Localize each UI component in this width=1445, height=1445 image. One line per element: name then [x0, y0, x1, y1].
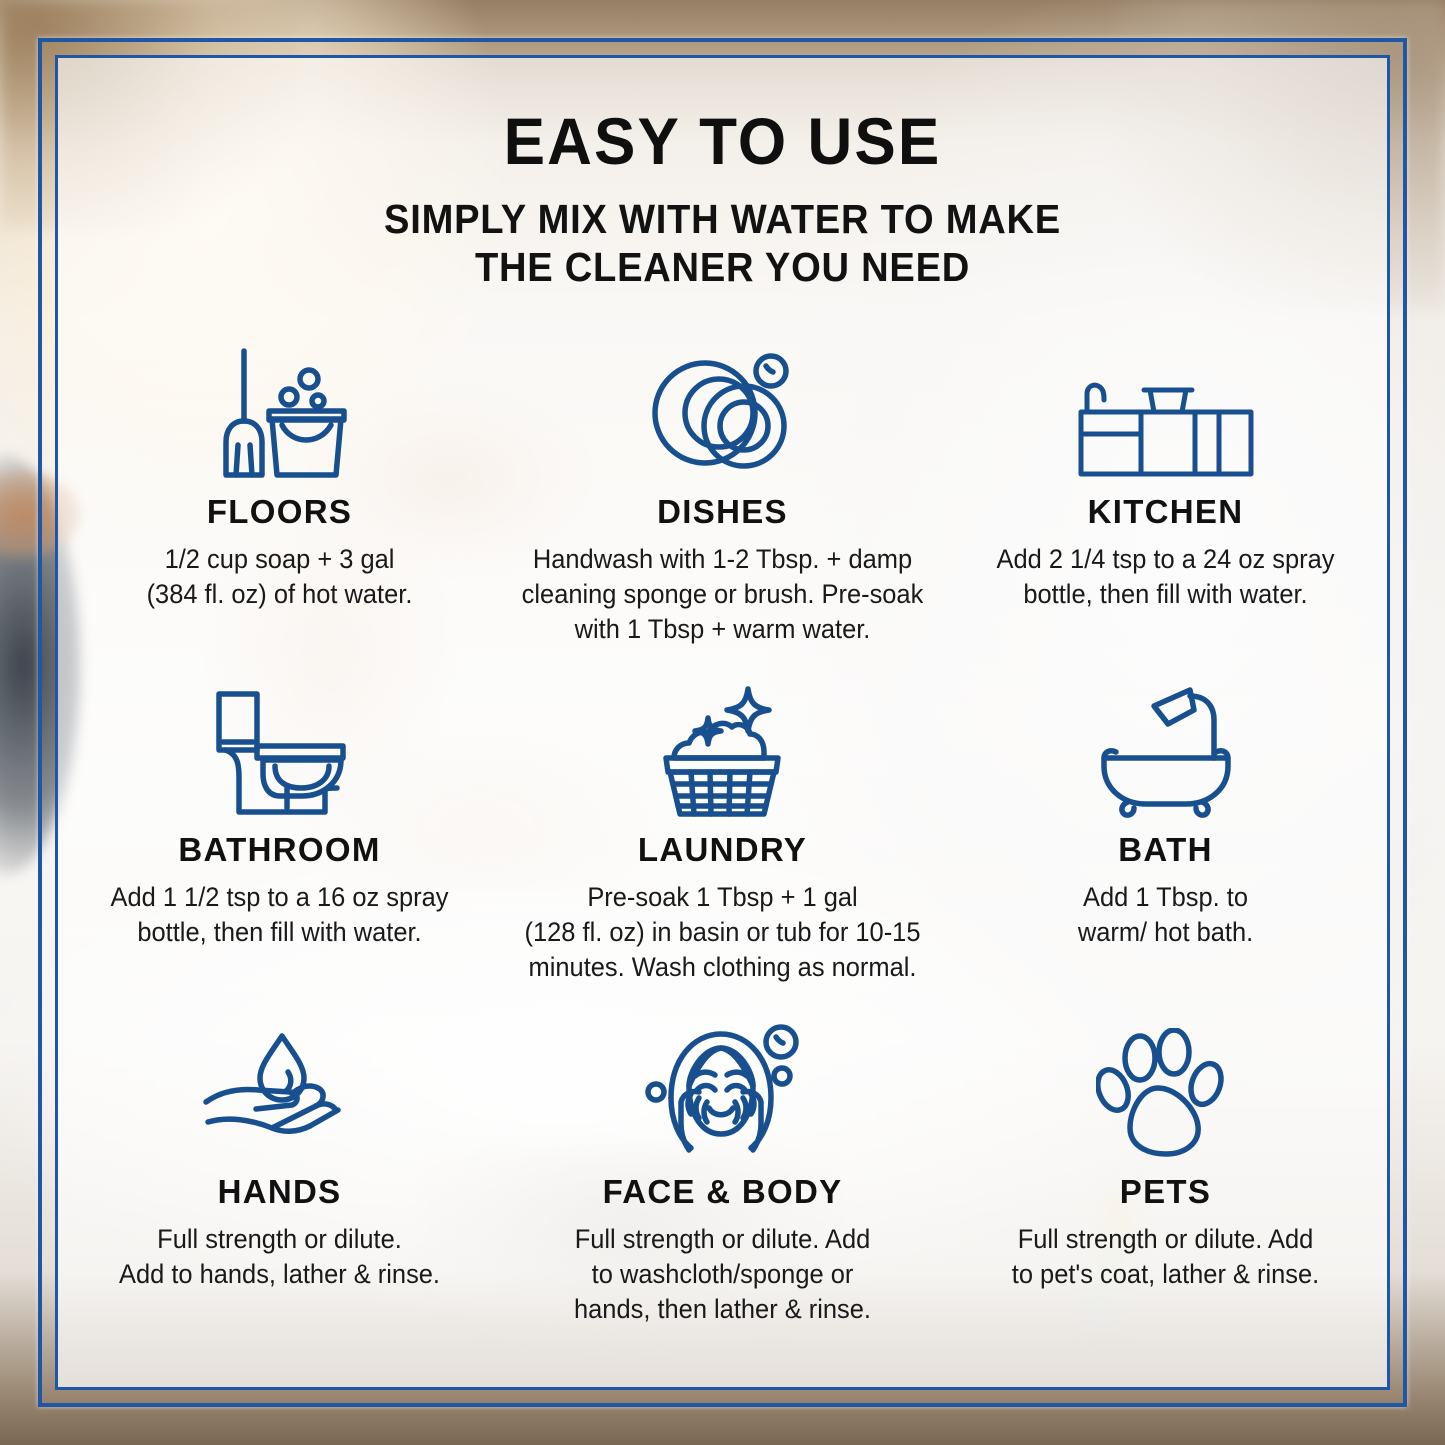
- hand-with-droplet-icon: [66, 1010, 493, 1160]
- use-case-description: Add 2 1/4 tsp to a 24 oz spray bottle, t…: [961, 542, 1371, 612]
- desc-line: with 1 Tbsp + warm water.: [518, 612, 928, 647]
- use-case-title: FLOORS: [66, 495, 493, 528]
- page-subtitle-line-2: THE CLEANER YOU NEED: [105, 244, 1341, 292]
- page-subtitle-line-1: SIMPLY MIX WITH WATER TO MAKE: [384, 196, 1061, 242]
- desc-line: Pre-soak 1 Tbsp + 1 gal: [518, 880, 928, 915]
- use-case-description: Add 1 1/2 tsp to a 16 oz spray bottle, t…: [75, 880, 485, 950]
- desc-line: (384 fl. oz) of hot water.: [75, 577, 485, 612]
- use-case-title: BATHROOM: [66, 833, 493, 866]
- desc-line: to pet's coat, lather & rinse.: [961, 1257, 1371, 1292]
- use-case-card-dishes: DISHES Handwash with 1-2 Tbsp. + damp cl…: [501, 330, 944, 670]
- plates-dishes-icon: [509, 330, 936, 480]
- use-case-title: FACE & BODY: [509, 1175, 936, 1208]
- use-case-grid: FLOORS 1/2 cup soap + 3 gal (384 fl. oz)…: [58, 330, 1387, 1350]
- desc-line: hands, then lather & rinse.: [518, 1292, 928, 1327]
- desc-line: Full strength or dilute. Add: [961, 1222, 1371, 1257]
- use-case-title: BATH: [952, 833, 1379, 866]
- use-case-title: KITCHEN: [952, 495, 1379, 528]
- page-subtitle: SIMPLY MIX WITH WATER TO MAKE THE CLEANE…: [105, 196, 1341, 292]
- laundry-basket-icon: [509, 670, 936, 818]
- use-case-description: 1/2 cup soap + 3 gal (384 fl. oz) of hot…: [75, 542, 485, 612]
- use-case-card-bathroom: BATHROOM Add 1 1/2 tsp to a 16 oz spray …: [58, 670, 501, 1010]
- desc-line: (128 fl. oz) in basin or tub for 10-15: [518, 915, 928, 950]
- desc-line: bottle, then fill with water.: [961, 577, 1371, 612]
- kitchen-counter-icon: [952, 330, 1379, 480]
- desc-line: Add 2 1/4 tsp to a 24 oz spray: [961, 542, 1371, 577]
- use-case-card-floors: FLOORS 1/2 cup soap + 3 gal (384 fl. oz)…: [58, 330, 501, 670]
- use-case-description: Full strength or dilute. Add to hands, l…: [75, 1222, 485, 1292]
- infographic-canvas: EASY TO USE SIMPLY MIX WITH WATER TO MAK…: [0, 0, 1445, 1445]
- use-case-title: PETS: [952, 1175, 1379, 1208]
- use-case-title: DISHES: [509, 495, 936, 528]
- use-case-description: Full strength or dilute. Add to washclot…: [518, 1222, 928, 1328]
- desc-line: minutes. Wash clothing as normal.: [518, 950, 928, 985]
- use-case-card-kitchen: KITCHEN Add 2 1/4 tsp to a 24 oz spray b…: [944, 330, 1387, 670]
- desc-line: Full strength or dilute. Add: [518, 1222, 928, 1257]
- face-washing-icon: [509, 1010, 936, 1160]
- use-case-description: Full strength or dilute. Add to pet's co…: [961, 1222, 1371, 1292]
- bathtub-shower-icon: [952, 670, 1379, 818]
- desc-line: Add 1 1/2 tsp to a 16 oz spray: [75, 880, 485, 915]
- use-case-title: HANDS: [66, 1175, 493, 1208]
- infographic-content: EASY TO USE SIMPLY MIX WITH WATER TO MAK…: [58, 58, 1387, 1387]
- desc-line: Handwash with 1-2 Tbsp. + damp: [518, 542, 928, 577]
- toilet-icon: [66, 670, 493, 818]
- use-case-card-face-body: FACE & BODY Full strength or dilute. Add…: [501, 1010, 944, 1350]
- use-case-description: Add 1 Tbsp. to warm/ hot bath.: [961, 880, 1371, 950]
- use-case-card-pets: PETS Full strength or dilute. Add to pet…: [944, 1010, 1387, 1350]
- desc-line: Add 1 Tbsp. to: [961, 880, 1371, 915]
- use-case-card-hands: HANDS Full strength or dilute. Add to ha…: [58, 1010, 501, 1350]
- use-case-card-bath: BATH Add 1 Tbsp. to warm/ hot bath.: [944, 670, 1387, 1010]
- desc-line: bottle, then fill with water.: [75, 915, 485, 950]
- use-case-description: Handwash with 1-2 Tbsp. + damp cleaning …: [518, 542, 928, 648]
- use-case-description: Pre-soak 1 Tbsp + 1 gal (128 fl. oz) in …: [518, 880, 928, 986]
- desc-line: Add to hands, lather & rinse.: [75, 1257, 485, 1292]
- desc-line: cleaning sponge or brush. Pre-soak: [518, 577, 928, 612]
- desc-line: 1/2 cup soap + 3 gal: [75, 542, 485, 577]
- desc-line: warm/ hot bath.: [961, 915, 1371, 950]
- use-case-card-laundry: LAUNDRY Pre-soak 1 Tbsp + 1 gal (128 fl.…: [501, 670, 944, 1010]
- desc-line: Full strength or dilute.: [75, 1222, 485, 1257]
- use-case-title: LAUNDRY: [509, 833, 936, 866]
- mop-and-bucket-icon: [66, 330, 493, 480]
- paw-print-icon: [952, 1010, 1379, 1160]
- desc-line: to washcloth/sponge or: [518, 1257, 928, 1292]
- page-title: EASY TO USE: [98, 108, 1347, 174]
